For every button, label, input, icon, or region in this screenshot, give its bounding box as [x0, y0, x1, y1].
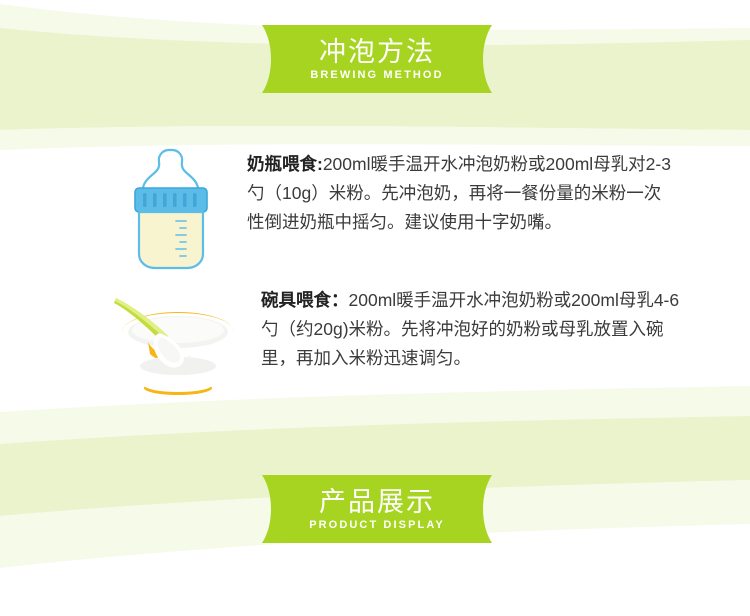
section-banner-product-display: 产品展示 PRODUCT DISPLAY — [262, 475, 492, 543]
instruction-text-bowl-feeding: 碗具喂食：200ml暖手温开水冲泡奶粉或200ml母乳4-6勺（约20g)米粉。… — [261, 286, 691, 373]
page-root: 冲泡方法 BREWING METHOD — [0, 0, 750, 616]
banner-title-cn: 冲泡方法 — [319, 37, 435, 67]
instruction-row-bottle-feeding: 奶瓶喂食:200ml暖手温开水冲泡奶粉或200ml母乳对2-3勺（10g）米粉。… — [122, 142, 677, 272]
instruction-row-bowl-feeding: 碗具喂食：200ml暖手温开水冲泡奶粉或200ml母乳4-6勺（约20g)米粉。… — [114, 286, 691, 400]
banner-title-en: PRODUCT DISPLAY — [309, 518, 445, 532]
banner-title-cn: 产品展示 — [319, 487, 435, 517]
banner-text-group: 冲泡方法 BREWING METHOD — [262, 25, 492, 93]
baby-bottle-icon — [122, 142, 234, 272]
banner-text-group: 产品展示 PRODUCT DISPLAY — [262, 475, 492, 543]
instruction-text-bottle-feeding: 奶瓶喂食:200ml暖手温开水冲泡奶粉或200ml母乳对2-3勺（10g）米粉。… — [247, 150, 677, 237]
instruction-label-bowl: 碗具喂食： — [261, 290, 349, 310]
instruction-label-bottle: 奶瓶喂食: — [247, 154, 323, 174]
bowl-and-spoon-icon — [114, 296, 242, 400]
banner-title-en: BREWING METHOD — [310, 68, 443, 82]
section-banner-brewing-method: 冲泡方法 BREWING METHOD — [262, 25, 492, 93]
